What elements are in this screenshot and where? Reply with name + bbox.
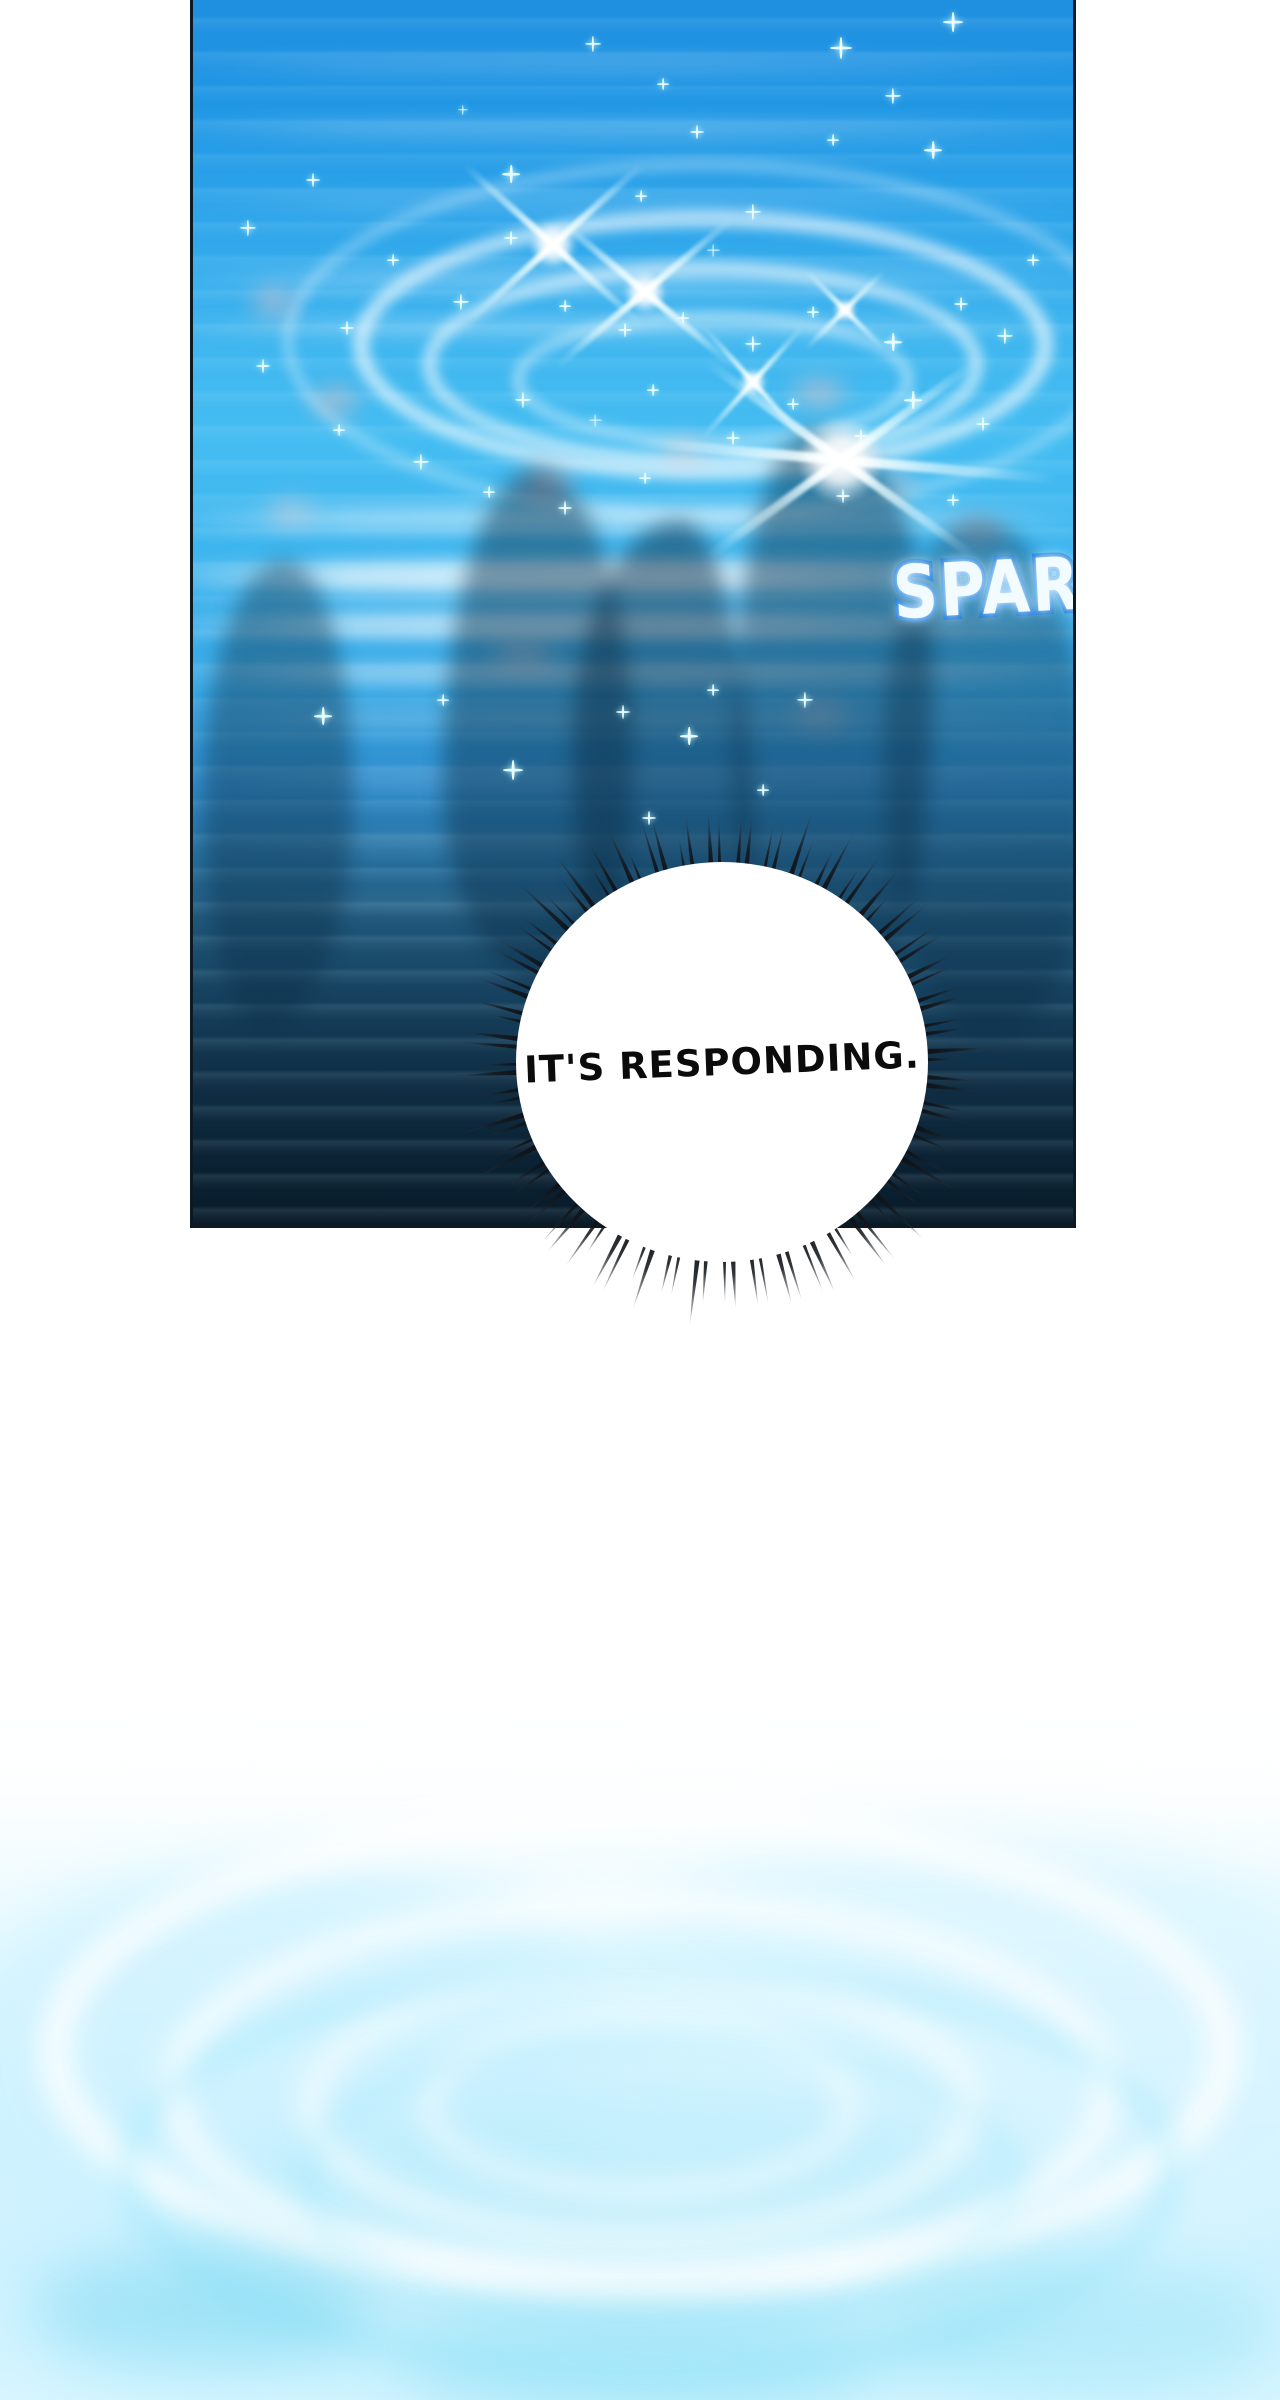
sparkle-twinkle [707,684,719,696]
sparkle-twinkle [904,391,922,409]
sparkle-twinkle [745,336,761,352]
sparkle-twinkle [690,125,704,139]
sparkle-twinkle [885,88,901,104]
sparkle-twinkle [827,134,839,146]
sparkle-twinkle [807,306,819,318]
sparkle-twinkle [515,392,531,408]
sparkle-twinkle [387,254,399,266]
sparkle-twinkle [924,141,942,159]
sparkle-twinkle [997,328,1013,344]
sparkle-twinkle [707,244,720,257]
sparkle-twinkle [340,321,354,335]
sparkle-twinkle [616,705,630,719]
sparkle-twinkle [797,692,813,708]
sparkle-twinkle [256,359,270,373]
sparkle-twinkle [642,811,656,825]
sparkle-twinkle [306,173,320,187]
sparkle-twinkle [314,707,332,725]
sparkle-twinkle [502,165,520,183]
sparkle-twinkle [1027,254,1039,266]
light-bokeh [663,440,703,462]
foam-band [193,120,1073,140]
pale-ripple-ring-tint [300,2030,1020,2330]
sparkle-twinkle [503,760,523,780]
sparkle-twinkle [680,727,698,745]
sparkle-twinkle [787,398,799,410]
speech-bubble-body: IT'S RESPONDING. [516,862,928,1262]
pale-water-wash [30,2250,370,2370]
sparkle-twinkle [437,694,449,706]
sparkle-twinkle [726,431,740,445]
sfx-sparkle-text: SPARKLE [891,533,1073,636]
light-bokeh [268,500,314,524]
sparkle-twinkle [976,417,990,431]
sparkle-twinkle [483,486,495,498]
sparkle-twinkle [954,297,968,311]
light-bokeh [313,388,357,414]
sparkle-twinkle [333,424,345,436]
sparkle-twinkle [585,36,601,52]
sparkle-twinkle [559,300,571,312]
sparkle-twinkle [504,231,518,245]
sparkle-twinkle [639,472,651,484]
sparkle-twinkle [745,204,761,220]
speech-bubble-text: IT'S RESPONDING. [508,854,935,1270]
sparkle-twinkle [657,78,669,90]
sparkle-twinkle [618,323,632,337]
sparkle-twinkle [589,414,602,427]
sparkle-twinkle [854,429,868,443]
light-bokeh [253,290,295,314]
sparkle-twinkle [830,37,852,59]
sparkle-twinkle [836,489,850,503]
sparkle-twinkle [757,784,769,796]
sparkle-twinkle [884,333,902,351]
sparkle-twinkle [635,190,647,202]
sparkle-twinkle [558,501,572,515]
sparkle-twinkle [677,312,689,324]
sparkle-twinkle [453,294,469,310]
speech-bubble-responding[interactable]: IT'S RESPONDING. [472,826,972,1298]
sparkle-twinkle [240,220,256,236]
sparkle-twinkle [458,105,468,115]
sparkle-twinkle [947,494,959,506]
panel-pale-water-ripple [0,1560,1280,2400]
pale-water-top-fade [0,1560,1280,1890]
foam-band [193,58,1073,74]
sparkle-twinkle [647,384,659,396]
comic-page: SPARKLE IT'S RESPONDING. [0,0,1280,2400]
sparkle-twinkle [943,12,963,32]
sparkle-twinkle [413,454,429,470]
light-bokeh [793,380,845,406]
pale-water-wash [880,2260,1280,2400]
